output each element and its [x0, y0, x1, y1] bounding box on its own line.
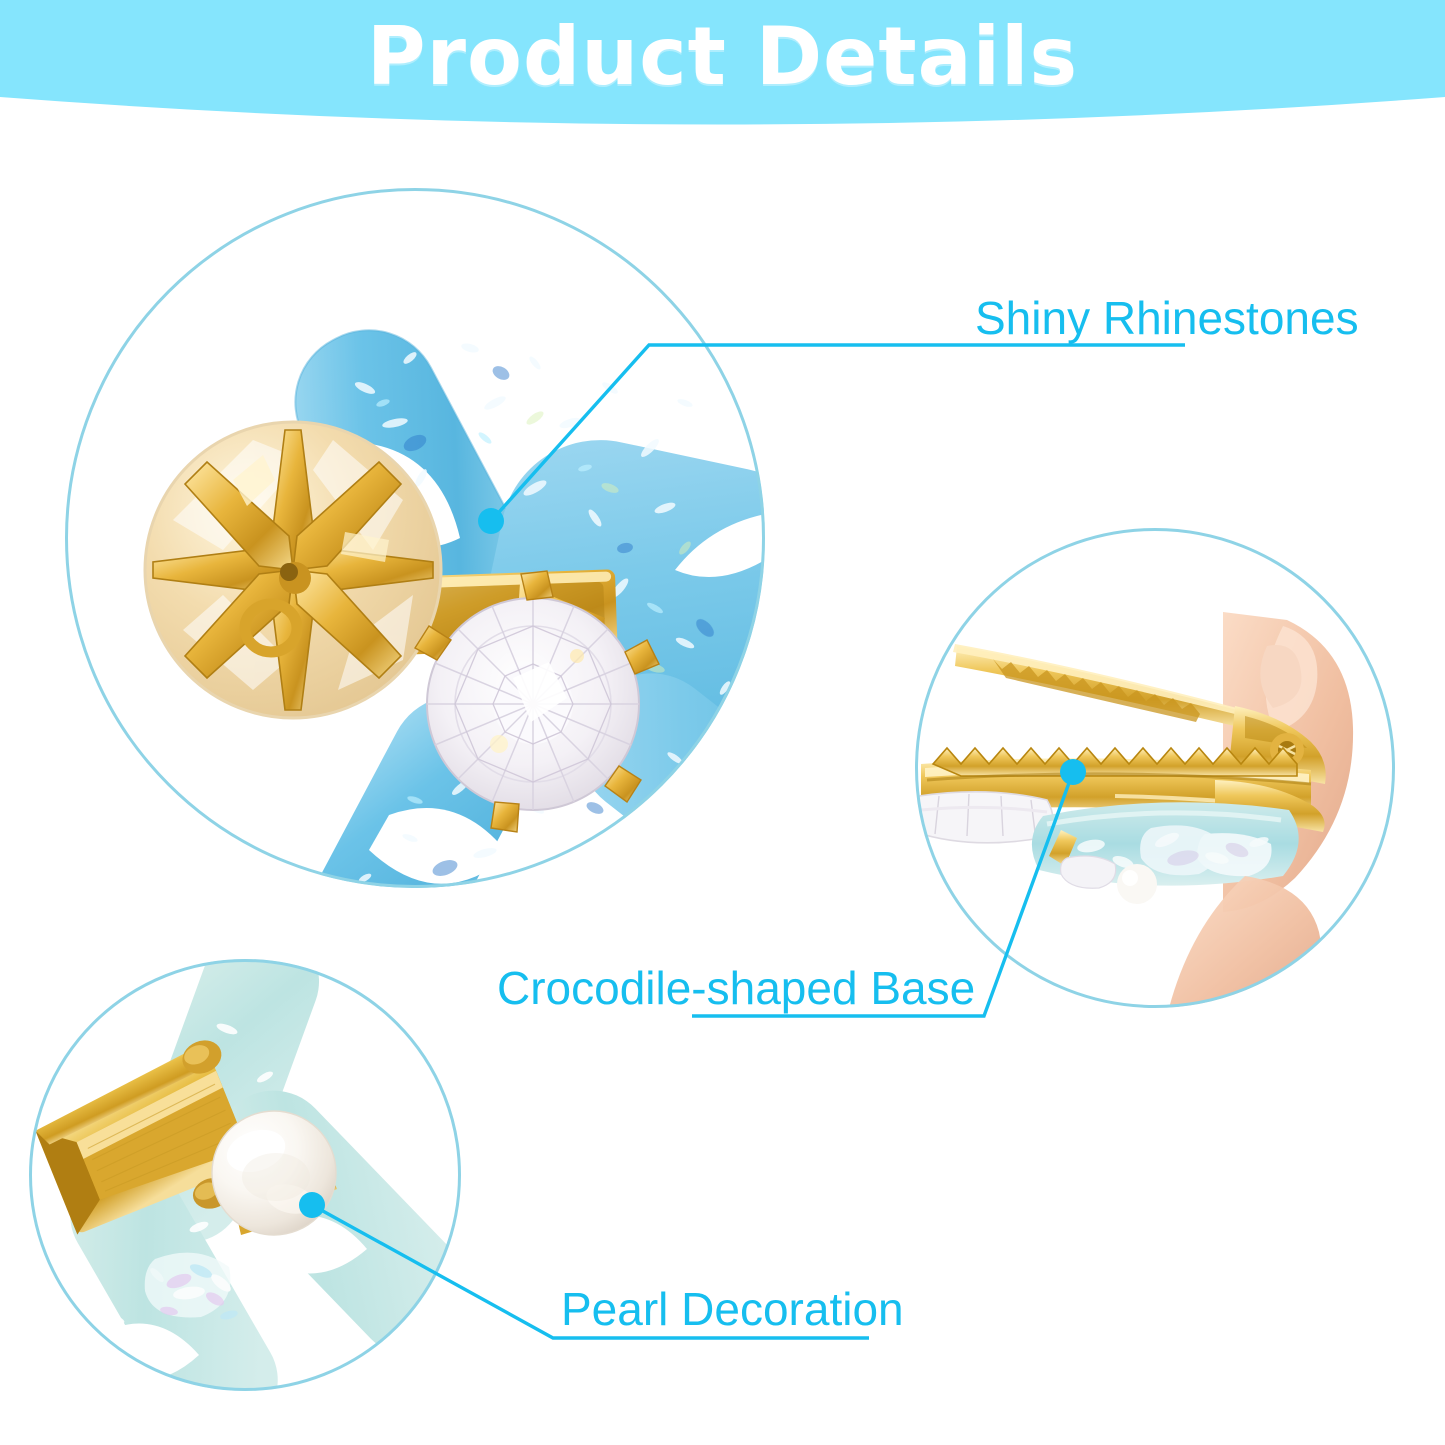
callout-label-pearl-decoration: Pearl Decoration	[561, 1283, 904, 1335]
crocodile-photo-circle-border	[915, 528, 1395, 1008]
main-photo-circle-border	[65, 188, 765, 888]
product-details-infographic: Product Details	[0, 0, 1445, 1445]
callout-label-shiny-rhinestones: Shiny Rhinestones	[975, 292, 1359, 344]
callout-label-crocodile-shaped-base: Crocodile-shaped Base	[497, 962, 975, 1014]
pearl-photo-circle-border	[29, 959, 461, 1391]
page-title: Product Details	[0, 14, 1445, 100]
header-banner: Product Details	[0, 0, 1445, 150]
